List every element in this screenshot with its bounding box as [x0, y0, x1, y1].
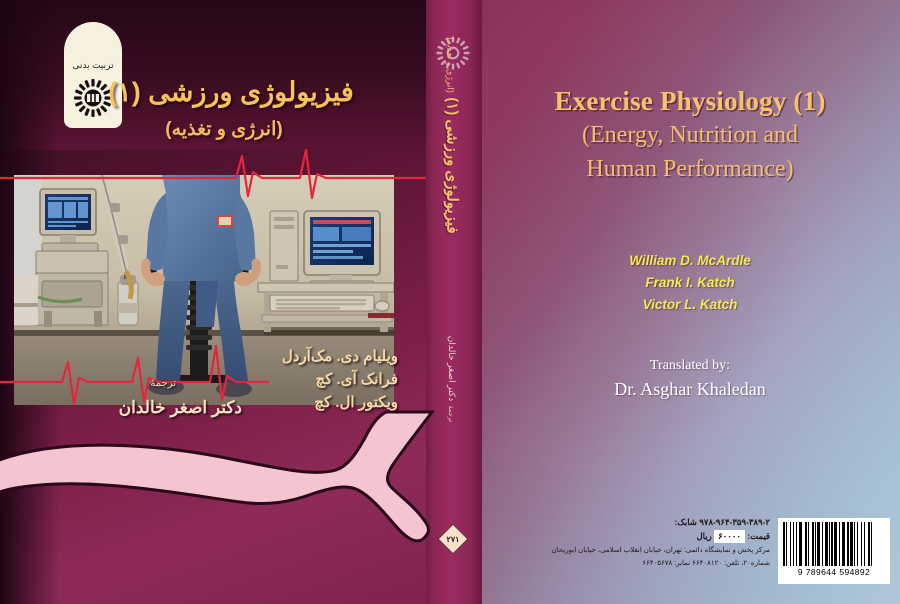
publisher-logo: تربیت بدنی: [64, 22, 122, 128]
barcode-bars: [783, 522, 885, 566]
persian-author-1: ویلیام دی. مک‌آردل: [282, 346, 398, 369]
price-label: قیمت:: [747, 531, 770, 541]
publication-info-block: ۹۷۸-۹۶۴-۳۵۹-۳۸۹-۲ شابک: قیمت: ۶۰۰۰۰ ریال…: [540, 516, 770, 569]
english-author-3: Victor L. Katch: [480, 294, 900, 316]
english-translator-name: Dr. Asghar Khaledan: [480, 376, 900, 403]
persian-subtitle: (انرژی و تغذیه): [74, 118, 374, 141]
spine-title: فیزیولوژی ورزشی (۱): [444, 97, 461, 233]
english-author-1: William D. McArdle: [480, 250, 900, 272]
english-author-2: Frank I. Katch: [480, 272, 900, 294]
publisher-logo-label: تربیت بدنی: [64, 60, 122, 71]
spine-number-badge: ۲۷۱: [437, 523, 468, 554]
english-translator-block: Translated by: Dr. Asghar Khaledan: [480, 355, 900, 403]
persian-authors-block: ویلیام دی. مک‌آردل فرانک آی. کچ ویکتور ا…: [282, 346, 398, 414]
address-line-2: شماره۲۰، تلفن: ۶۶۴۰۸۱۲۰ نمابر: ۶۶۴۰۵۶۷۸: [540, 558, 770, 569]
english-authors-block: William D. McArdle Frank I. Katch Victor…: [480, 250, 900, 316]
price-currency: ریال: [696, 531, 711, 541]
spine-title-block: فیزیولوژی ورزشی (۱) (انرژی و تغذیه): [443, 0, 462, 286]
spine-translate-label: ترجمهٔ: [447, 406, 454, 423]
persian-author-2: فرانک آی. کچ: [282, 369, 398, 392]
address-line-1: مرکز پخش و نمایشگاه دائمی: تهران، خیابان…: [540, 545, 770, 556]
spine-badge-number: ۲۷۱: [447, 534, 460, 543]
persian-translate-label: ترجمهٔ: [150, 378, 176, 389]
book-cover-image: Exercise Physiology (1) (Energy, Nutriti…: [0, 0, 900, 604]
isbn-line: ۹۷۸-۹۶۴-۳۵۹-۳۸۹-۲ شابک:: [540, 516, 770, 529]
spine-subtitle: (انرژی و تغذیه): [446, 37, 456, 93]
translated-by-label: Translated by:: [480, 355, 900, 376]
spine-translator-name: دکتر اصغر خالدان: [447, 336, 457, 401]
price-line: قیمت: ۶۰۰۰۰ ریال: [540, 530, 770, 543]
english-title-line2: (Energy, Nutrition and: [480, 120, 900, 150]
spine-panel: فیزیولوژی ورزشی (۱) (انرژی و تغذیه) ترجم…: [424, 0, 482, 604]
back-cover-panel: Exercise Physiology (1) (Energy, Nutriti…: [480, 0, 900, 604]
price-value: ۶۰۰۰۰: [714, 530, 745, 543]
front-cover-panel: تربیت بدنی: [0, 0, 426, 604]
persian-translator-name: دکتر اصغر خالدان: [119, 398, 242, 418]
spine-translator-block: ترجمهٔ دکتر اصغر خالدان: [444, 274, 462, 484]
isbn-label: شابک:: [674, 517, 697, 527]
english-title-block: Exercise Physiology (1) (Energy, Nutriti…: [480, 86, 900, 185]
english-title-line3: Human Performance): [480, 154, 900, 184]
isbn-value: ۹۷۸-۹۶۴-۳۵۹-۳۸۹-۲: [699, 517, 770, 527]
english-title-line1: Exercise Physiology (1): [480, 86, 900, 116]
barcode: 9 789644 594892: [778, 518, 890, 584]
persian-title: فیزیولوژی ورزشی (۱): [66, 76, 396, 108]
barcode-digits: 9 789644 594892: [783, 567, 885, 577]
persian-author-3: ویکتور ال. کچ: [282, 392, 398, 415]
